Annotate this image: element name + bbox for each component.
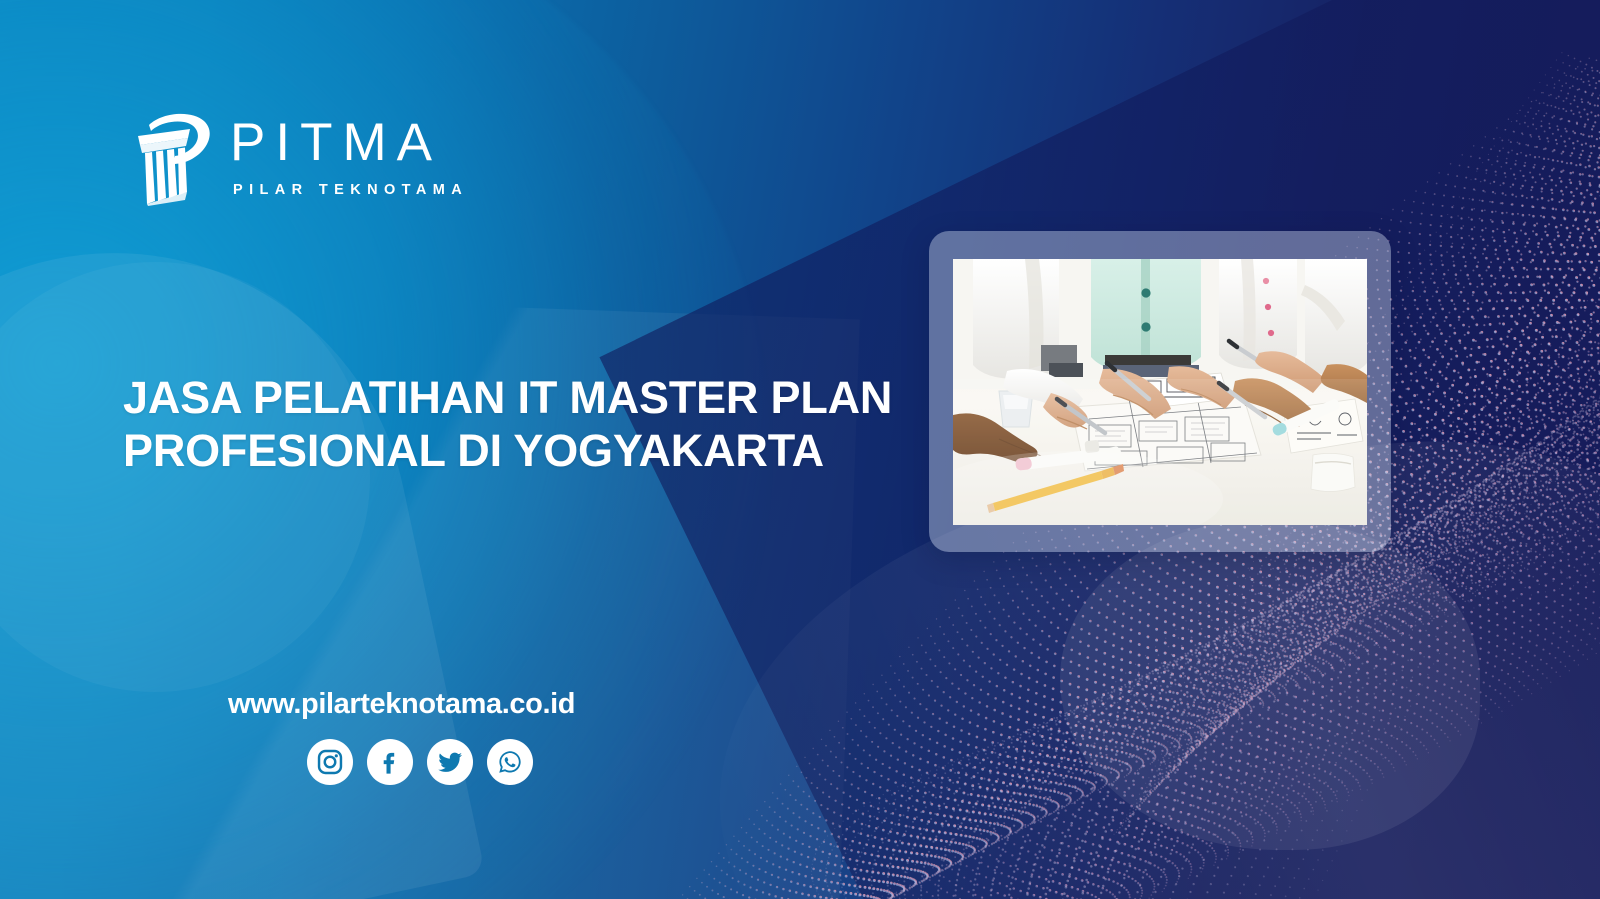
facebook-icon bbox=[376, 748, 404, 776]
logo-text-block: PITMA PILAR TEKNOTAMA bbox=[230, 116, 468, 198]
social-links bbox=[307, 739, 533, 785]
social-link-whatsapp[interactable] bbox=[487, 739, 533, 785]
page-title: JASA PELATIHAN IT MASTER PLAN PROFESIONA… bbox=[123, 371, 863, 477]
social-link-facebook[interactable] bbox=[367, 739, 413, 785]
brand-logo[interactable]: PITMA PILAR TEKNOTAMA bbox=[128, 108, 468, 206]
pillar-column-logo-icon bbox=[128, 108, 214, 206]
logo-tagline: PILAR TEKNOTAMA bbox=[233, 183, 468, 198]
photo-image bbox=[953, 259, 1367, 525]
team-collaboration-photo bbox=[953, 259, 1367, 525]
whatsapp-icon bbox=[496, 748, 524, 776]
website-url[interactable]: www.pilarteknotama.co.id bbox=[228, 688, 575, 721]
photo-card-frame bbox=[929, 231, 1391, 552]
headline-line-1: JASA PELATIHAN IT MASTER PLAN bbox=[123, 371, 863, 424]
logo-wordmark: PITMA bbox=[230, 116, 468, 169]
twitter-icon bbox=[436, 748, 464, 776]
headline-line-2: PROFESIONAL DI YOGYAKARTA bbox=[123, 424, 863, 477]
social-link-instagram[interactable] bbox=[307, 739, 353, 785]
promotional-banner: PITMA PILAR TEKNOTAMA JASA PELATIHAN IT … bbox=[0, 0, 1600, 899]
instagram-icon bbox=[316, 748, 344, 776]
social-link-twitter[interactable] bbox=[427, 739, 473, 785]
